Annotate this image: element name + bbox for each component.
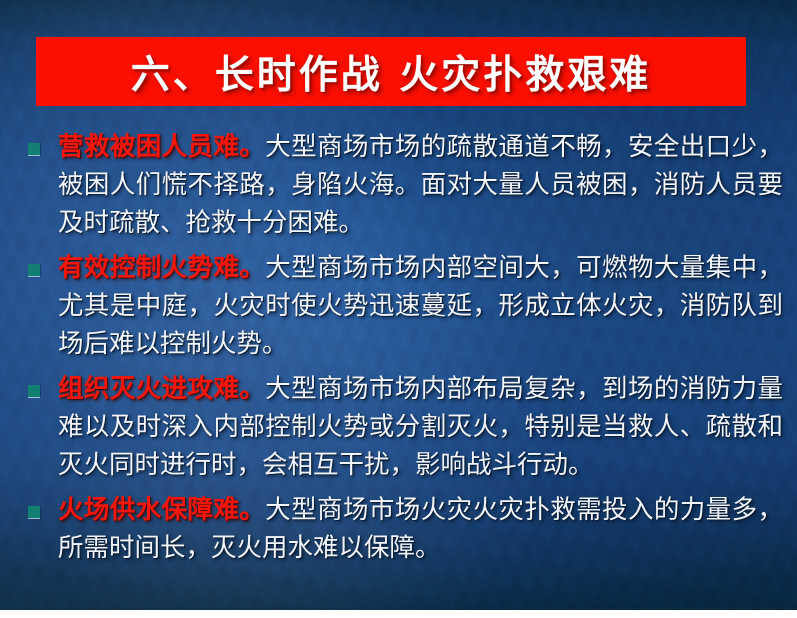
bullet-lead-label: 组织灭火进攻难。 xyxy=(58,374,265,404)
bullet-list: 营救被困人员难。大型商场市场的疏散通道不畅，安全出口少，被困人们慌不择路，身陷火… xyxy=(0,128,797,574)
square-bullet-icon xyxy=(28,264,40,276)
square-bullet-icon xyxy=(28,385,40,397)
bullet-paragraph: 有效控制火势难。大型商场市场内部空间大，可燃物大量集中，尤其是中庭，火灾时使火势… xyxy=(58,249,783,363)
title-banner: 六、长时作战 火灾扑救艰难 xyxy=(36,37,746,106)
list-item: 组织灭火进攻难。大型商场市场内部布局复杂，到场的消防力量难以及时深入内部控制火势… xyxy=(0,370,797,484)
square-bullet-icon xyxy=(28,143,40,155)
bottom-white-strip xyxy=(0,610,797,618)
bullet-paragraph: 火场供水保障难。大型商场市场火灾火灾扑救需投入的力量多，所需时间长，灭火用水难以… xyxy=(58,491,783,567)
page-title: 六、长时作战 火灾扑救艰难 xyxy=(131,44,652,100)
bullet-lead-label: 有效控制火势难。 xyxy=(58,253,265,283)
bullet-paragraph: 组织灭火进攻难。大型商场市场内部布局复杂，到场的消防力量难以及时深入内部控制火势… xyxy=(58,370,783,484)
bullet-lead-label: 营救被困人员难。 xyxy=(58,132,265,162)
presentation-slide: 六、长时作战 火灾扑救艰难 营救被困人员难。大型商场市场的疏散通道不畅，安全出口… xyxy=(0,0,797,610)
bullet-paragraph: 营救被困人员难。大型商场市场的疏散通道不畅，安全出口少，被困人们慌不择路，身陷火… xyxy=(58,128,783,242)
list-item: 有效控制火势难。大型商场市场内部空间大，可燃物大量集中，尤其是中庭，火灾时使火势… xyxy=(0,249,797,363)
bullet-lead-label: 火场供水保障难。 xyxy=(58,495,265,525)
list-item: 火场供水保障难。大型商场市场火灾火灾扑救需投入的力量多，所需时间长，灭火用水难以… xyxy=(0,491,797,567)
square-bullet-icon xyxy=(28,506,40,518)
list-item: 营救被困人员难。大型商场市场的疏散通道不畅，安全出口少，被困人们慌不择路，身陷火… xyxy=(0,128,797,242)
